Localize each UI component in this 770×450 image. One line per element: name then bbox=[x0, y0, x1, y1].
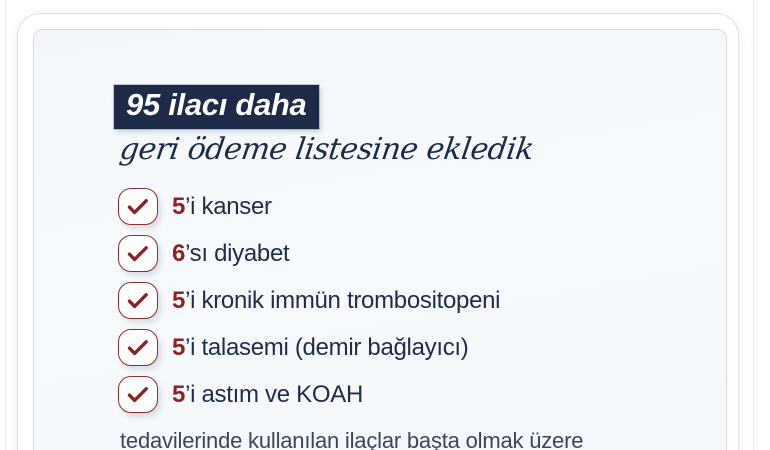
list-item-suffix: ’sı bbox=[185, 240, 208, 267]
check-icon bbox=[118, 235, 158, 272]
list-item-text: 5’i astım ve KOAH bbox=[172, 381, 363, 409]
check-icon bbox=[118, 329, 158, 366]
list-item: 5’i kronik immün trombositopeni bbox=[118, 277, 718, 324]
page-rail-right bbox=[753, 0, 754, 450]
list-item: 5’i talasemi (demir bağlayıcı) bbox=[118, 324, 718, 371]
list-item-text: 5’i kronik immün trombositopeni bbox=[172, 287, 500, 315]
list-item-label: diyabet bbox=[208, 240, 290, 267]
list-item: 5’i kanser bbox=[118, 183, 718, 230]
list-item-number: 6 bbox=[172, 240, 185, 267]
list-item-number: 5 bbox=[172, 381, 185, 408]
list-item-label: astım ve KOAH bbox=[195, 381, 363, 408]
page-rail-left bbox=[5, 0, 6, 450]
list-item-label: talasemi (demir bağlayıcı) bbox=[195, 334, 468, 361]
list-item-text: 6’sı diyabet bbox=[172, 240, 289, 268]
list-item-label: kanser bbox=[195, 193, 272, 220]
list-item-number: 5 bbox=[172, 287, 185, 314]
headline-badge-top: 95 ilacı daha bbox=[114, 85, 319, 129]
list-item: 5’i astım ve KOAH bbox=[118, 371, 718, 418]
check-icon bbox=[118, 376, 158, 413]
list-item-suffix: ’i bbox=[185, 381, 195, 408]
list-item: 6’sı diyabet bbox=[118, 230, 718, 277]
list-item-suffix: ’i bbox=[185, 334, 195, 361]
list-item-suffix: ’i bbox=[185, 193, 195, 220]
list-item-text: 5’i kanser bbox=[172, 193, 272, 221]
list-item-number: 5 bbox=[172, 193, 185, 220]
list-item-label: kronik immün trombositopeni bbox=[195, 287, 500, 314]
closing-sentence: tedavilerinde kullanılan ilaçlar başta o… bbox=[120, 428, 583, 450]
poster-card-inner: 95 ilacı daha geri ödeme listesine ekled… bbox=[33, 29, 727, 450]
list-item-suffix: ’i bbox=[185, 287, 195, 314]
list-item-number: 5 bbox=[172, 334, 185, 361]
poster-screenshot: 95 ilacı daha geri ödeme listesine ekled… bbox=[0, 0, 770, 450]
check-icon bbox=[118, 282, 158, 319]
list-item-text: 5’i talasemi (demir bağlayıcı) bbox=[172, 334, 468, 362]
headline-script-line: geri ödeme listesine ekledik bbox=[118, 132, 536, 167]
checklist: 5’i kanser 6’sı diyabet bbox=[118, 183, 718, 418]
check-icon bbox=[118, 188, 158, 225]
